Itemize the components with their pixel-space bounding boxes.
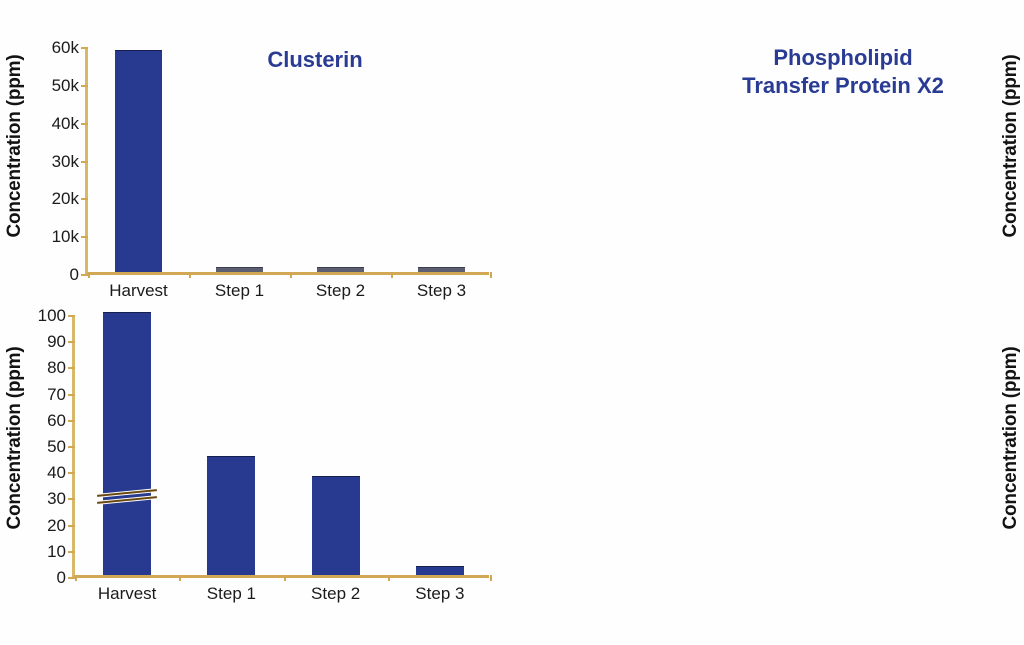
y-axis-tick-label: 20k (52, 189, 79, 209)
y-axis-tick-label: 20 (47, 516, 66, 536)
bar (317, 267, 363, 272)
plot-area: 010k20k30k40k50k60kHarvestStep 1Step 2St… (85, 48, 489, 275)
y-axis-tick-label: 80 (47, 358, 66, 378)
y-axis-tick (68, 577, 75, 579)
chart-panel-clusterin-full: Concentration (ppm) Clusterin 010k20k30k… (0, 18, 500, 310)
x-axis-tick (490, 272, 492, 278)
y-axis-tick-label: 70 (47, 385, 66, 405)
bar (312, 476, 360, 575)
y-axis-tick-label: 60k (52, 38, 79, 58)
y-axis-tick-label: 40k (52, 114, 79, 134)
y-axis-tick-label: 30k (52, 152, 79, 172)
y-axis-tick-label: 100 (38, 306, 66, 326)
y-axis-title: Concentration (ppm) (2, 318, 28, 558)
x-axis-tick (75, 575, 77, 581)
y-axis-tick (68, 525, 75, 527)
x-axis-tick (189, 272, 191, 278)
y-axis-tick-label: 40 (47, 463, 66, 483)
y-axis-tick (68, 551, 75, 553)
y-axis-tick (81, 85, 88, 87)
figure-canvas: Concentration (ppm) Clusterin 010k20k30k… (0, 0, 1024, 645)
y-axis-tick-label: 50k (52, 76, 79, 96)
x-axis-category-label: Step 1 (207, 584, 256, 604)
y-axis-tick (68, 341, 75, 343)
y-axis-tick-label: 0 (70, 265, 79, 285)
chart-title-pltp: Phospholipid Transfer Protein X2 (678, 44, 1008, 99)
y-axis-title: Concentration (ppm) (2, 26, 28, 266)
y-axis-tick (68, 498, 75, 500)
y-axis-tick (68, 420, 75, 422)
y-axis-tick-label: 10k (52, 227, 79, 247)
y-axis-tick (68, 315, 75, 317)
x-axis-tick (391, 272, 393, 278)
y-axis-tick-label: 60 (47, 411, 66, 431)
y-axis-tick-label: 90 (47, 332, 66, 352)
plot-area: 0102030405060708090100HarvestStep 1Step … (72, 316, 489, 578)
x-axis-tick (88, 272, 90, 278)
x-axis-category-label: Step 2 (311, 584, 360, 604)
y-axis-tick (81, 161, 88, 163)
chart-panel-pltp-full: Concentration (ppm) Phospholipid Transfe… (498, 18, 1024, 310)
bar (207, 456, 255, 575)
y-axis-tick (81, 47, 88, 49)
x-axis-tick (490, 575, 492, 581)
bar (216, 267, 262, 272)
x-axis-category-label: Harvest (109, 281, 168, 301)
bar (115, 50, 161, 272)
x-axis-category-label: Step 2 (316, 281, 365, 301)
y-axis-tick (81, 123, 88, 125)
bar (103, 312, 151, 575)
y-axis-tick (81, 274, 88, 276)
bar (416, 566, 464, 575)
x-axis-category-label: Harvest (98, 584, 157, 604)
x-axis-tick (290, 272, 292, 278)
chart-panel-clusterin-zoom: Concentration (ppm) 01020304050607080901… (0, 306, 500, 606)
y-axis-title: Concentration (ppm) (998, 318, 1024, 558)
y-axis-tick-label: 10 (47, 542, 66, 562)
y-axis-tick (68, 472, 75, 474)
x-axis-category-label: Step 3 (417, 281, 466, 301)
y-axis-tick-label: 30 (47, 489, 66, 509)
bar (418, 267, 464, 272)
x-axis-tick (284, 575, 286, 581)
x-axis-tick (388, 575, 390, 581)
x-axis-category-label: Step 3 (415, 584, 464, 604)
y-axis-tick (81, 198, 88, 200)
y-axis-tick-label: 0 (57, 568, 66, 588)
x-axis-tick (179, 575, 181, 581)
y-axis-tick (68, 446, 75, 448)
chart-panel-pltp-zoom: Concentration (ppm) 012345678910HarvestS… (498, 306, 1024, 606)
y-axis-tick (81, 236, 88, 238)
y-axis-tick-label: 50 (47, 437, 66, 457)
y-axis-tick (68, 367, 75, 369)
y-axis-tick (68, 394, 75, 396)
x-axis-category-label: Step 1 (215, 281, 264, 301)
